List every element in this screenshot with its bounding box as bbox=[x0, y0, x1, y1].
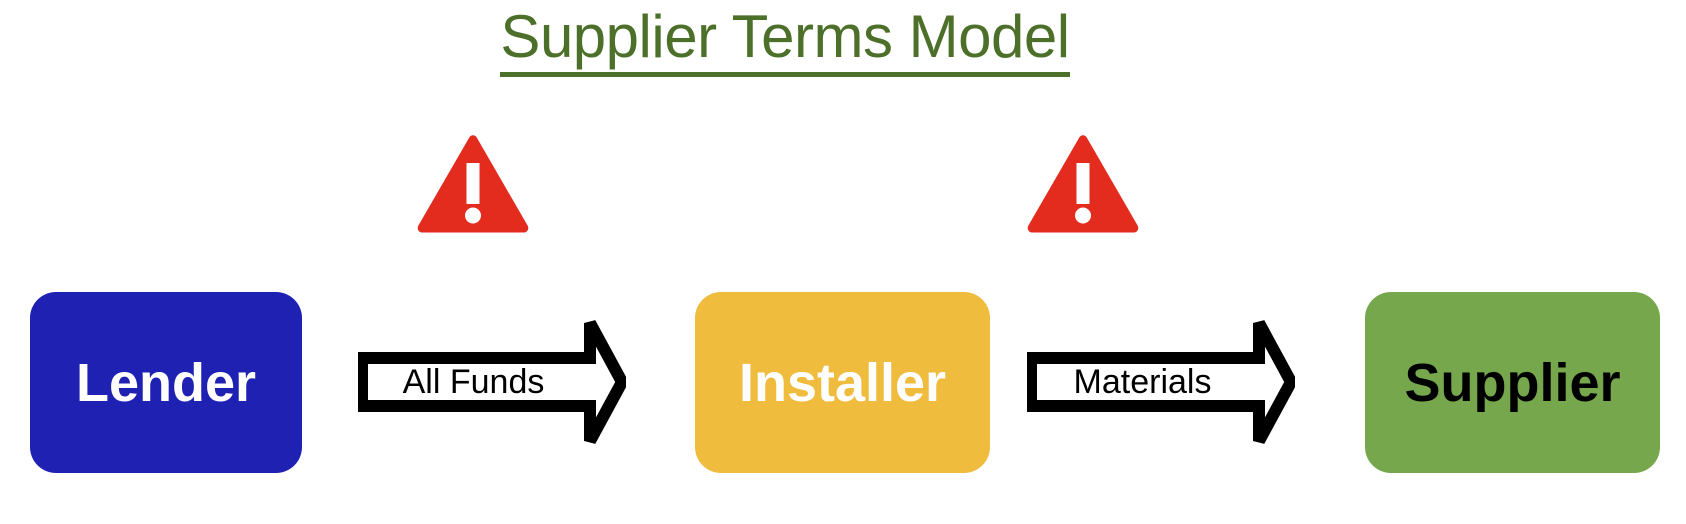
diagram-canvas: Supplier Terms Model Lender All Funds In… bbox=[0, 0, 1686, 524]
arrow-materials[interactable]: Materials bbox=[1027, 317, 1295, 447]
node-supplier[interactable]: Supplier bbox=[1365, 292, 1660, 473]
arrow-all-funds[interactable]: All Funds bbox=[358, 317, 626, 447]
warning-triangle-icon bbox=[416, 134, 530, 234]
node-installer[interactable]: Installer bbox=[695, 292, 990, 473]
title-container: Supplier Terms Model bbox=[0, 4, 1570, 77]
warning-triangle-icon bbox=[1026, 134, 1140, 234]
node-supplier-label: Supplier bbox=[1404, 356, 1620, 410]
node-lender[interactable]: Lender bbox=[30, 292, 302, 473]
node-lender-label: Lender bbox=[76, 356, 256, 410]
page-title: Supplier Terms Model bbox=[500, 4, 1069, 77]
node-installer-label: Installer bbox=[739, 356, 946, 410]
